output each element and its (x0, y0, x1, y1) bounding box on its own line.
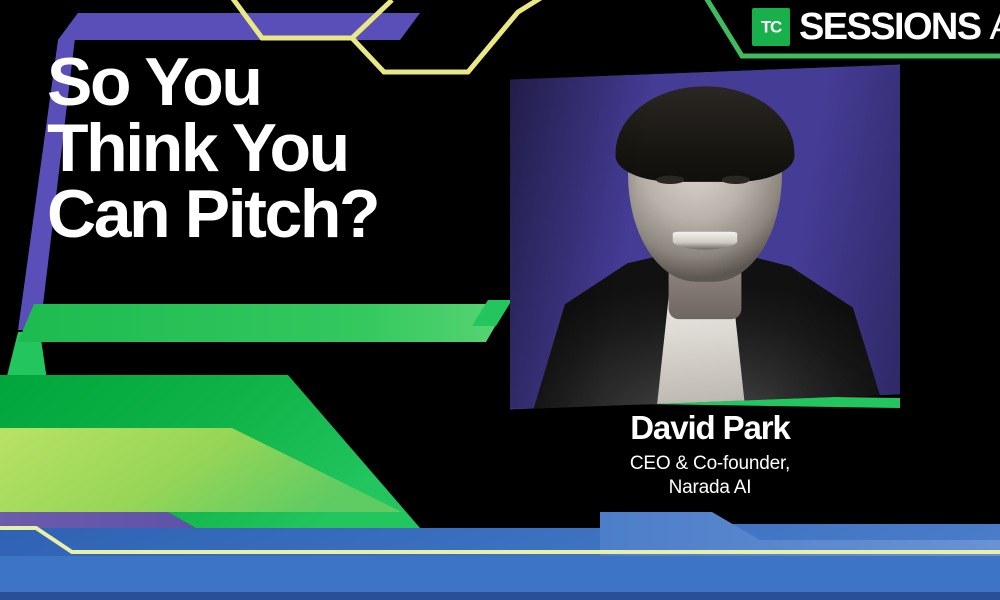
bottom-green-block (0, 375, 420, 528)
top-purple-bar (58, 13, 420, 40)
green-bar-under-title (18, 304, 508, 342)
tc-logo-icon: TC (752, 8, 790, 46)
page-title: So You Think You Can Pitch? (47, 50, 517, 248)
bottom-blue-fill (0, 556, 1000, 600)
tc-logo-letters: TC (752, 19, 790, 36)
speaker-portrait (510, 65, 900, 410)
speaker-role-line-2: Narada AI (520, 476, 900, 500)
bottom-blue-shadow (0, 592, 1000, 600)
title-line-1: So You (47, 50, 517, 116)
zigzag-spacer (238, 0, 398, 40)
green-notch-left (472, 300, 512, 326)
left-green-edge (6, 332, 308, 568)
speaker-name: David Park (520, 410, 900, 447)
bottom-purple-band (0, 512, 1000, 554)
slide-canvas: So You Think You Can Pitch? David Park C… (0, 0, 1000, 600)
speaker-role-line-1: CEO & Co-founder, (520, 452, 900, 476)
title-line-3: Can Pitch? (47, 182, 517, 248)
bottom-blue-band (0, 524, 1000, 600)
bottom-yellow-rule (0, 528, 1000, 552)
brand-ai-suffix: AI (990, 8, 1000, 46)
title-line-2: Think You (47, 116, 517, 182)
speaker-info: David Park CEO & Co-founder, Narada AI (520, 410, 900, 499)
techcrunch-sessions-logo: TC SESSIONS AI (752, 4, 1000, 50)
bottom-blue-step (600, 512, 1000, 600)
brand-sessions-word: SESSIONS (799, 8, 981, 46)
yellow-zigzag-upper (228, 0, 392, 38)
bottom-light-green-block (0, 428, 402, 512)
portrait-photo-image (510, 65, 900, 408)
portrait-vignette (510, 65, 900, 408)
